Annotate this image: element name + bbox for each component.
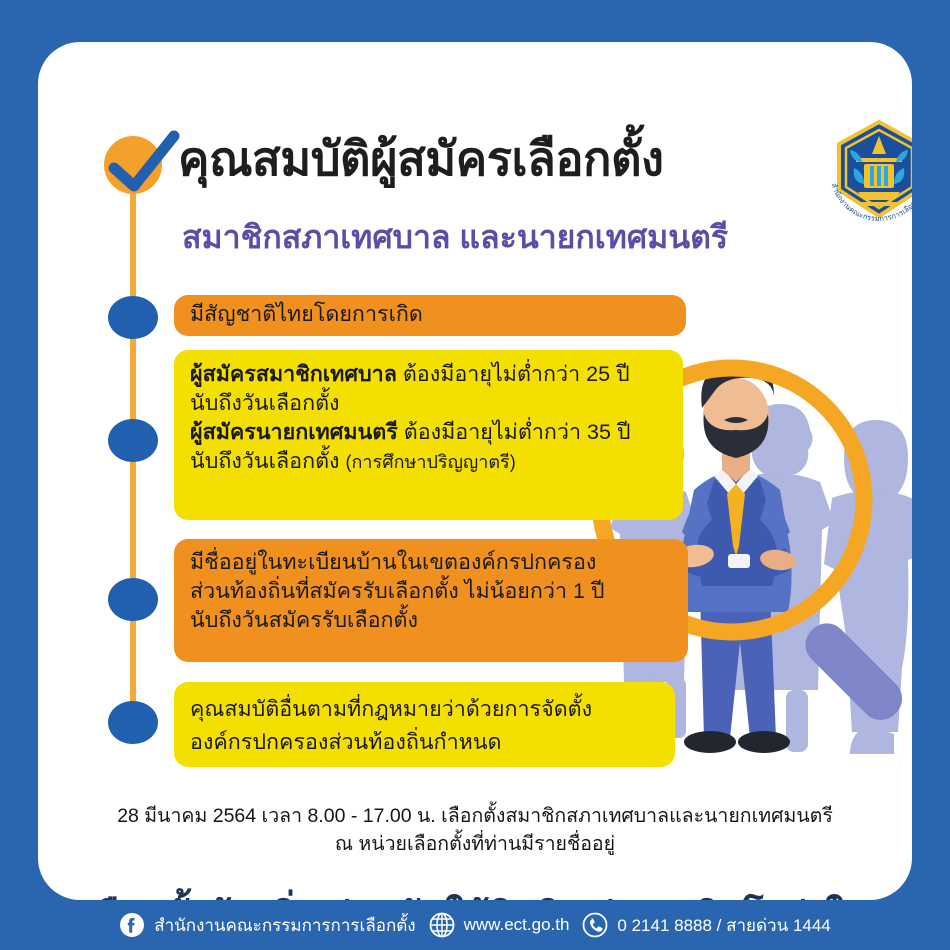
footer-phone-label: 0 2141 8888 / สายด่วน 1444 [617,912,830,939]
qualification-box-age: ผู้สมัครสมาชิกเทศบาล ต้องมีอายุไม่ต่ำกว่… [174,350,683,520]
footer-website[interactable]: www.ect.go.th [429,912,570,938]
footer-website-label: www.ect.go.th [464,915,570,935]
qualification-line: นับถึงวันเลือกตั้ง [190,389,665,418]
page-subtitle: สมาชิกสภาเทศบาล และนายกเทศมนตรี [182,220,728,255]
content-card: สำนักงานคณะกรรมการการเลือกตั้ง คุณสมบัติ… [38,42,912,900]
timeline-dot-1 [108,296,158,339]
qualification-emphasis: ผู้สมัครสมาชิกเทศบาล [190,362,397,386]
check-circle-icon [104,130,182,200]
election-info-line-2: ณ หน่วยเลือกตั้งที่ท่านมีรายชื่ออยู่ [38,830,912,858]
timeline-dot-2 [108,419,158,462]
qualification-line: นับถึงวันสมัครรับเลือกตั้ง [190,606,670,635]
footer-phone[interactable]: 0 2141 8888 / สายด่วน 1444 [582,912,830,939]
qualification-line: คุณสมบัติอื่นตามที่กฎหมายว่าด้วยการจัดตั… [190,693,657,726]
footer-facebook[interactable]: สำนักงานคณะกรรมการการเลือกตั้ง [119,912,415,939]
election-info-line-1: 28 มีนาคม 2564 เวลา 8.00 - 17.00 น. เลือ… [38,802,912,830]
qualification-line: ผู้สมัครสมาชิกเทศบาล ต้องมีอายุไม่ต่ำกว่… [190,360,665,389]
qualification-box-nationality: มีสัญชาติไทยโดยการเกิด [174,295,686,336]
qualification-line: มีชื่ออยู่ในทะเบียนบ้านในเขตองค์กรปกครอง [190,548,670,577]
globe-icon[interactable] [429,912,455,938]
facebook-icon[interactable] [119,912,145,938]
qualification-line: ผู้สมัครนายกเทศมนตรี ต้องมีอายุไม่ต่ำกว่… [190,418,665,447]
poster-root: สำนักงานคณะกรรมการการเลือกตั้ง คุณสมบัติ… [0,0,950,950]
ect-emblem-logo: สำนักงานคณะกรรมการการเลือกตั้ง [820,110,912,228]
qualification-line: ส่วนท้องถิ่นที่สมัครรับเลือกตั้ง ไม่น้อย… [190,577,670,606]
qualification-line: มีสัญชาติไทยโดยการเกิด [190,300,668,329]
timeline-dot-3 [108,578,158,621]
qualification-emphasis: ผู้สมัครนายกเทศมนตรี [190,420,398,444]
qualification-note: (การศึกษาปริญญาตรี) [346,452,516,472]
qualification-box-residency: มีชื่ออยู่ในทะเบียนบ้านในเขตองค์กรปกครอง… [174,539,688,662]
timeline-dot-4 [108,701,158,744]
election-info: 28 มีนาคม 2564 เวลา 8.00 - 17.00 น. เลือ… [38,802,912,859]
footer-bar: สำนักงานคณะกรรมการการเลือกตั้ง www.ect.g… [0,900,950,950]
phone-icon[interactable] [582,912,608,938]
campaign-slogan: เลือกตั้งท้องถิ่น ร่วมกันใช้สิทธิ อย่างส… [38,885,912,900]
footer-facebook-label: สำนักงานคณะกรรมการการเลือกตั้ง [154,912,415,939]
page-title: คุณสมบัติผู้สมัครเลือกตั้ง [178,134,663,183]
qualification-line: องค์กรปกครองส่วนท้องถิ่นกำหนด [190,726,657,759]
qualification-box-other: คุณสมบัติอื่นตามที่กฎหมายว่าด้วยการจัดตั… [174,682,675,767]
qualification-line: นับถึงวันเลือกตั้ง (การศึกษาปริญญาตรี) [190,447,665,476]
